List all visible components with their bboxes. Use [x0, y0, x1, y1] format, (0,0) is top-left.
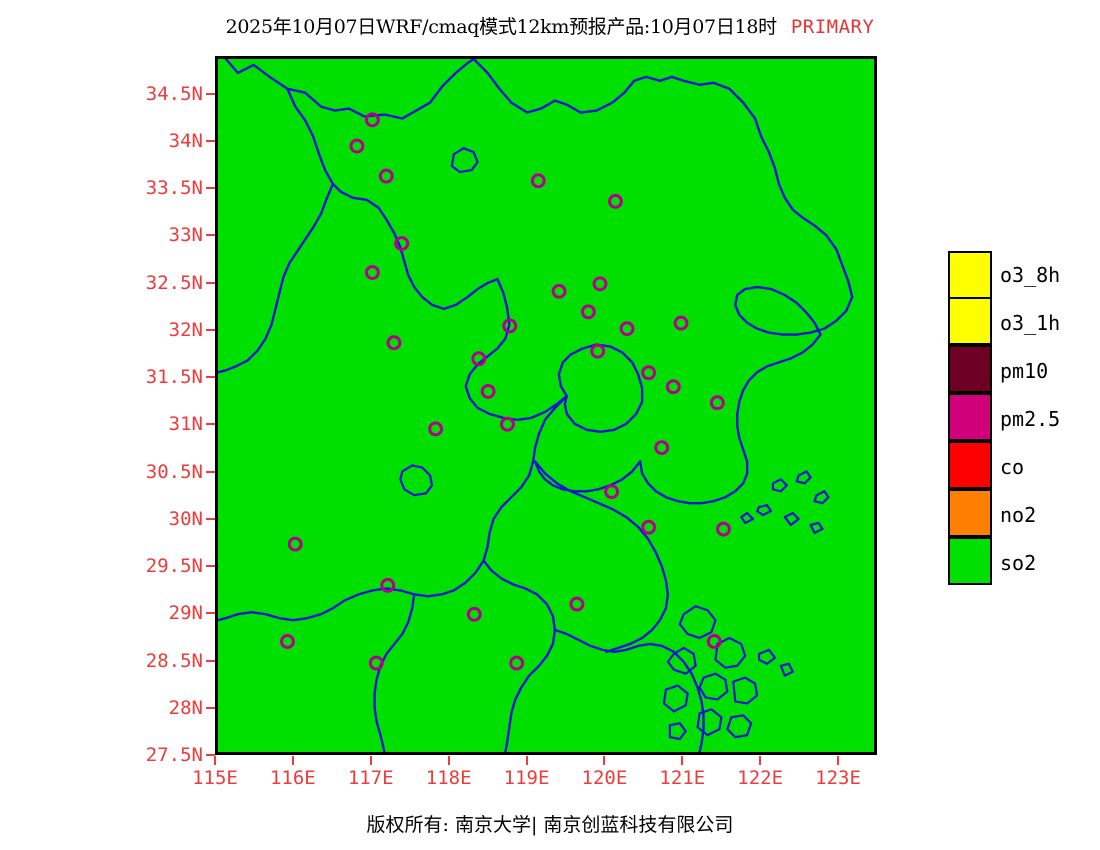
y-axis-label-text: 34.5N	[145, 83, 209, 105]
station-marker[interactable]	[380, 170, 392, 182]
legend-color-swatch	[948, 441, 992, 489]
forecast-map[interactable]	[215, 56, 877, 755]
x-axis-tick-mark	[214, 756, 216, 765]
y-axis-tick-mark	[206, 707, 215, 709]
y-axis-label-text: 31N	[145, 413, 209, 435]
legend-label-text: co	[1000, 455, 1024, 479]
station-marker[interactable]	[370, 657, 382, 669]
x-axis-tick-label: 123E	[815, 767, 861, 789]
x-axis-tick-label: 118E	[426, 767, 472, 789]
y-axis-tick-mark	[206, 93, 215, 95]
y-axis-tick-mark	[206, 518, 215, 520]
legend-label-text: so2	[1000, 551, 1036, 575]
station-marker[interactable]	[388, 337, 400, 349]
x-axis-tick-mark	[603, 756, 605, 765]
station-marker[interactable]	[606, 486, 618, 498]
station-marker[interactable]	[502, 418, 514, 430]
y-axis-label-text: 33N	[145, 224, 209, 246]
station-marker[interactable]	[430, 423, 442, 435]
station-marker[interactable]	[366, 267, 378, 279]
y-axis-tick-mark	[206, 565, 215, 567]
station-marker[interactable]	[675, 317, 687, 329]
copyright-footer: 版权所有: 南京大学| 南京创蓝科技有限公司	[0, 810, 1100, 837]
y-axis-tick-mark	[206, 660, 215, 662]
y-axis-label-text: 32N	[145, 319, 209, 341]
monitoring-stations	[282, 114, 730, 669]
y-axis-label-text: 30.5N	[145, 461, 209, 483]
y-axis-tick-mark	[206, 234, 215, 236]
chart-title: 2025年10月07日WRF/cmaq模式12km预报产品:10月07日18时P…	[0, 12, 1100, 39]
y-axis-label-text: 27.5N	[145, 744, 209, 766]
station-marker[interactable]	[610, 195, 622, 207]
x-axis-tick-label: 115E	[192, 767, 238, 789]
y-axis-tick-mark	[206, 282, 215, 284]
legend-label-text: pm2.5	[1000, 407, 1060, 431]
y-axis-tick-mark	[206, 187, 215, 189]
y-axis-label-text: 33.5N	[145, 177, 209, 199]
station-marker[interactable]	[656, 442, 668, 454]
station-marker[interactable]	[351, 140, 363, 152]
station-marker[interactable]	[511, 657, 523, 669]
x-axis-tick-mark	[759, 756, 761, 765]
legend-label-text: no2	[1000, 503, 1036, 527]
station-marker[interactable]	[582, 306, 594, 318]
x-axis-tick-mark	[370, 756, 372, 765]
legend-label-text: pm10	[1000, 359, 1048, 383]
x-axis-tick-label: 119E	[504, 767, 550, 789]
x-axis-tick-label: 117E	[348, 767, 394, 789]
y-axis-tick-mark	[206, 329, 215, 331]
y-axis-label-text: 29.5N	[145, 555, 209, 577]
station-marker[interactable]	[482, 385, 494, 397]
y-axis-label-text: 31.5N	[145, 366, 209, 388]
station-marker[interactable]	[667, 381, 679, 393]
x-axis-tick-label: 121E	[659, 767, 705, 789]
y-axis-label-text: 29N	[145, 602, 209, 624]
station-marker[interactable]	[553, 285, 565, 297]
station-marker[interactable]	[282, 636, 294, 648]
legend-label-text: o3_1h	[1000, 311, 1060, 335]
x-axis-tick-mark	[837, 756, 839, 765]
legend-label-text: o3_8h	[1000, 263, 1060, 287]
station-marker[interactable]	[289, 538, 301, 550]
legend-color-swatch	[948, 297, 992, 345]
x-axis-tick-mark	[681, 756, 683, 765]
y-axis-label-text: 34N	[145, 130, 209, 152]
y-axis-tick-mark	[206, 423, 215, 425]
y-axis-tick-mark	[206, 612, 215, 614]
y-axis-tick-mark	[206, 471, 215, 473]
x-axis-tick-mark	[526, 756, 528, 765]
station-marker[interactable]	[592, 345, 604, 357]
title-primary-badge: PRIMARY	[791, 16, 875, 38]
station-marker[interactable]	[594, 278, 606, 290]
station-marker[interactable]	[718, 523, 730, 535]
station-marker[interactable]	[708, 636, 720, 648]
title-main-text: 2025年10月07日WRF/cmaq模式12km预报产品:10月07日18时	[226, 16, 777, 38]
legend-color-swatch	[948, 251, 992, 299]
legend-color-swatch	[948, 393, 992, 441]
station-marker[interactable]	[643, 367, 655, 379]
station-marker[interactable]	[621, 323, 633, 335]
legend-color-swatch	[948, 489, 992, 537]
x-axis-tick-label: 116E	[270, 767, 316, 789]
x-axis-tick-label: 122E	[737, 767, 783, 789]
station-marker[interactable]	[532, 175, 544, 187]
legend-color-swatch	[948, 345, 992, 393]
y-axis-tick-mark	[206, 376, 215, 378]
legend-color-swatch	[948, 537, 992, 585]
province-boundaries	[218, 59, 852, 752]
y-axis-label-text: 32.5N	[145, 272, 209, 294]
station-marker[interactable]	[468, 608, 480, 620]
station-marker[interactable]	[571, 598, 583, 610]
y-axis-label-text: 30N	[145, 508, 209, 530]
station-marker[interactable]	[643, 521, 655, 533]
y-axis-label-text: 28.5N	[145, 650, 209, 672]
y-axis-label-text: 28N	[145, 697, 209, 719]
map-vector-layer	[218, 59, 874, 752]
x-axis-tick-mark	[292, 756, 294, 765]
y-axis-tick-mark	[206, 140, 215, 142]
station-marker[interactable]	[711, 397, 723, 409]
x-axis-tick-mark	[448, 756, 450, 765]
x-axis-tick-label: 120E	[582, 767, 628, 789]
